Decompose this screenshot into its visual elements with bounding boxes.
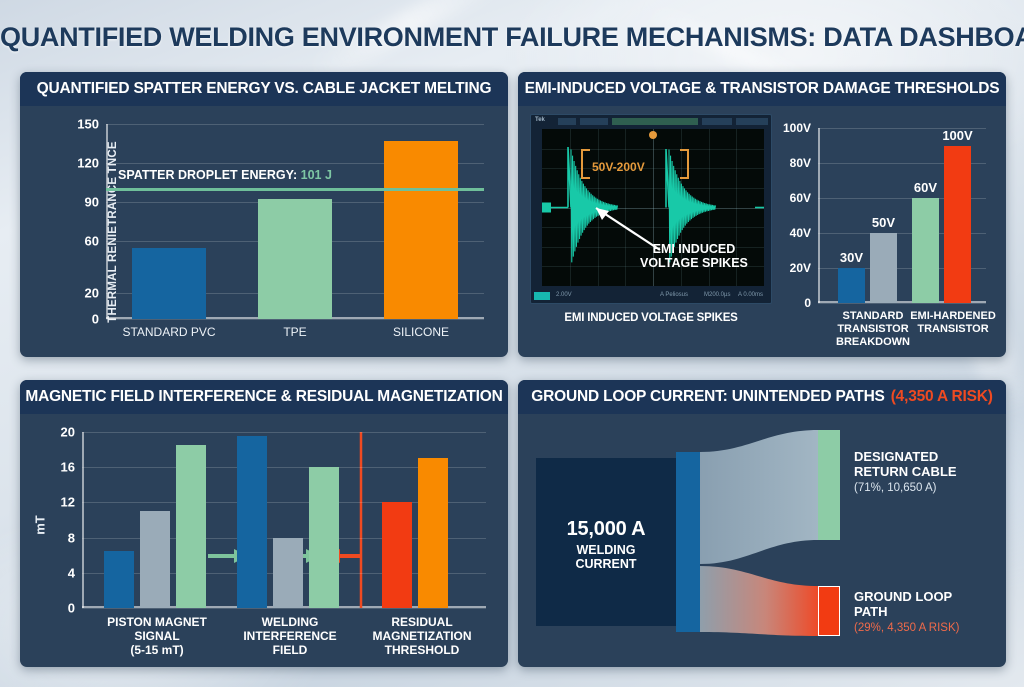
dashboard-root: QUANTIFIED WELDING ENVIRONMENT FAILURE M… [0,0,1024,687]
panel1-plot-area: 0206090120150STANDARD PVCTPESILICONESPAT… [106,124,484,319]
sankey-source-label: 15,000 A WELDING CURRENT [536,518,676,572]
bar-30v [838,268,865,303]
scope-time-offset: A 0.00ms [738,292,763,298]
y-tick-label: 100V [783,121,811,135]
bar-value-label: 60V [914,180,937,195]
spatter-threshold-line [106,188,484,191]
y-tick-label: 20 [61,425,75,440]
group-label: STANDARDTRANSISTORBREAKDOWN [836,310,910,349]
scope-time-div: M200.0µs [704,292,730,298]
scope-volts-div: 2.00V [556,292,572,298]
scope-status-segment [612,118,698,125]
scope-range-brackets [576,148,706,186]
y-tick-label: 16 [61,460,75,475]
sankey-source-name-1: WELDING [536,543,676,557]
panel3-y-axis-label: mT [32,516,47,536]
gridline [82,432,486,433]
panel3-header: MAGNETIC FIELD INTERFERENCE & RESIDUAL M… [20,380,508,414]
group-label: RESIDUALMAGNETIZATIONTHRESHOLD [372,615,471,657]
scope-trigger-status: A Peliosus [660,292,688,298]
bar-silicone [384,141,458,319]
bar-100v [944,146,971,304]
bar-g3-1 [382,502,412,608]
sankey-node-ground-loop [818,586,840,636]
y-axis [818,128,820,303]
y-tick-label: 12 [61,495,75,510]
group-label: EMI-HARDENEDTRANSISTOR [910,310,996,336]
scope-status-segment [736,118,768,125]
oscilloscope-image: Tek [530,114,772,304]
bar-value-label: 30V [840,250,863,265]
group-label: PISTON MAGNETSIGNAL(5-15 mT) [107,615,207,657]
panel-magnetic-field: MAGNETIC FIELD INTERFERENCE & RESIDUAL M… [20,380,508,667]
group-label: WELDINGINTERFERENCEFIELD [243,615,336,657]
x-tick-label: SILICONE [393,325,449,339]
panel-ground-loop: GROUND LOOP CURRENT: UNINTENDED PATHS (4… [518,380,1006,667]
bar-value-label: 50V [872,215,895,230]
bar-value-label: 100V [942,128,972,143]
y-tick-label: 0 [804,296,811,310]
panel-emi-voltage: EMI-INDUCED VOLTAGE & TRANSISTOR DAMAGE … [518,72,1006,357]
bar-50v [870,233,897,303]
y-tick-label: 80V [790,156,811,170]
scope-channel-chip [534,292,550,300]
bar-g1-2 [140,511,170,608]
panel1-header: QUANTIFIED SPATTER ENERGY VS. CABLE JACK… [20,72,508,106]
panel2-plot-area: 020V40V60V80V100V30V50V60V100VSTANDARDTR… [818,128,986,303]
bar-g2-2 [273,538,303,608]
bar-g1-1 [104,551,134,608]
panel1-body: THERMAL RENIETRANCE TNCE 0206090120150ST… [20,106,508,357]
x-tick-label: TPE [283,325,306,339]
scope-brand-label: Tek [535,117,545,123]
scope-status-segment [558,118,576,125]
bar-60v [912,198,939,303]
y-tick-label: 90 [85,195,99,210]
x-tick-label: STANDARD PVC [122,325,215,339]
panel2-body: Tek [518,106,1006,357]
sankey-source-value: 15,000 A [536,518,676,541]
scope-top-status-bar: Tek [532,116,770,127]
threshold-prefix: SPATTER DROPLET ENERGY: [118,168,301,182]
y-tick-label: 60V [790,191,811,205]
bar-g2-3 [309,467,339,608]
y-axis [106,124,108,319]
scope-bottom-status-bar: 2.00V A Peliosus M200.0µs A 0.00ms [532,291,770,302]
y-tick-label: 4 [68,565,75,580]
y-tick-label: 120 [77,156,99,171]
y-tick-label: 20V [790,261,811,275]
gridline [818,303,986,304]
y-tick-label: 150 [77,117,99,132]
y-tick-label: 0 [92,312,99,327]
panel4-header-main: GROUND LOOP CURRENT: UNINTENDED PATHS [531,388,884,406]
panel-spatter-energy: QUANTIFIED SPATTER ENERGY VS. CABLE JACK… [20,72,508,357]
bar-g2-1 [237,436,267,608]
sankey-label-ground-loop: GROUND LOOP PATH (29%, 4,350 A RISK) [854,590,959,634]
bar-g3-2 [418,458,448,608]
panel3-body: mT 048121620PISTON MAGNETSIGNAL(5-15 mT)… [20,414,508,667]
bar-tpe [258,199,332,319]
gridline [106,124,484,125]
gridline [82,608,486,609]
panel4-header-risk: (4,350 A RISK) [891,388,993,406]
scope-status-segment [580,118,608,125]
panel4-header: GROUND LOOP CURRENT: UNINTENDED PATHS (4… [518,380,1006,414]
threshold-value: 101 J [301,168,332,182]
y-tick-label: 20 [85,286,99,301]
y-tick-label: 60 [85,234,99,249]
panel2-header: EMI-INDUCED VOLTAGE & TRANSISTOR DAMAGE … [518,72,1006,106]
panel4-body: 15,000 A WELDING CURRENT DESIGNATED RETU… [518,414,1006,667]
scope-annotation-text: EMI INDUCED VOLTAGE SPIKES [640,242,748,270]
sankey-source-name-2: CURRENT [536,557,676,571]
page-title: QUANTIFIED WELDING ENVIRONMENT FAILURE M… [0,22,1024,53]
spatter-threshold-label: SPATTER DROPLET ENERGY: 101 J [118,168,332,182]
bar-g1-3 [176,445,206,608]
y-tick-label: 8 [68,530,75,545]
bar-standard-pvc [132,248,206,320]
y-tick-label: 40V [790,226,811,240]
sankey-node-source [676,452,700,632]
scope-status-segment [702,118,732,125]
sankey-label-return-cable: DESIGNATED RETURN CABLE (71%, 10,650 A) [854,450,957,494]
y-tick-label: 0 [68,601,75,616]
panel3-plot-area: 048121620PISTON MAGNETSIGNAL(5-15 mT)WEL… [82,432,486,608]
gridline [106,319,484,320]
scope-caption: EMI INDUCED VOLTAGE SPIKES [528,312,774,324]
sankey-node-return-cable [818,430,840,540]
